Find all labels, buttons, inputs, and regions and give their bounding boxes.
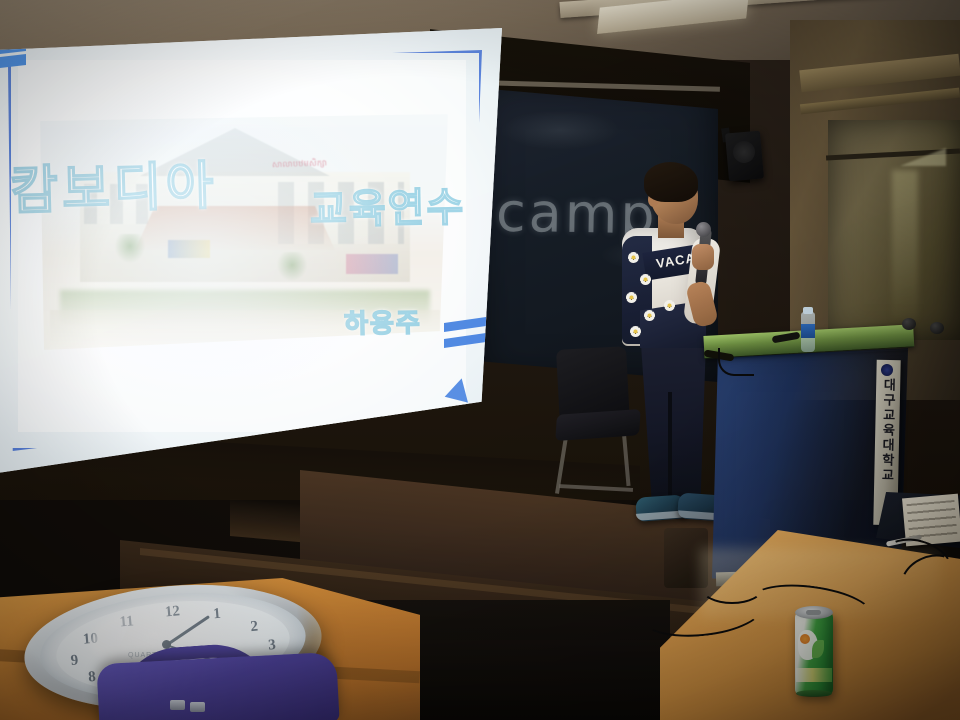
clock-number: 9: [70, 652, 79, 670]
paper-document-text-lines: [907, 500, 958, 540]
water-bottle-label: [801, 324, 815, 338]
shirt-flower-icon: [630, 326, 641, 337]
water-bottle-cap: [803, 307, 813, 314]
shirt-flower-icon: [626, 292, 637, 303]
podium-control-knob-secondary[interactable]: [930, 322, 944, 334]
bag-buckle-icon-secondary[interactable]: [190, 702, 205, 712]
podium-floor-cable: [700, 570, 764, 604]
podium-cable: [718, 348, 754, 376]
projection-screen: សាលាបឋមសិក្សា 캄보디아 교육연수 하용주: [0, 28, 502, 473]
soda-can-base: [796, 690, 832, 697]
shirt-flower-icon: [628, 252, 639, 263]
slide-presenter-name: 하용주: [344, 302, 422, 340]
podium-banner-logo-icon: [881, 364, 893, 376]
bag-buckle-icon[interactable]: [170, 700, 185, 710]
slide-title-sub: 교육연수: [310, 175, 466, 236]
chalk-smudge: [500, 110, 620, 150]
shirt-flower-icon: [640, 274, 651, 285]
soda-can-lower-band: [796, 668, 832, 682]
door-light-reflection: [900, 148, 946, 166]
purple-bag[interactable]: [96, 652, 339, 720]
photo-scene: camp សាលាបឋមសិក្សា 캄보디아 교육연수 하용주: [0, 0, 960, 720]
microphone-head-icon: [696, 222, 711, 237]
presenter-hair: [644, 162, 698, 202]
shirt-flower-icon: [664, 300, 675, 311]
presenter-leg-separation: [668, 392, 672, 500]
slide-border-frame: [8, 50, 482, 451]
clock-number: 8: [88, 669, 97, 687]
soda-can-fruit-icon: [800, 634, 810, 644]
shirt-flower-icon: [644, 310, 655, 321]
podium-control-knob[interactable]: [902, 318, 916, 330]
door-glass-glint: [892, 170, 918, 320]
presenter-hand: [692, 244, 714, 270]
soda-can-pull-tab-icon[interactable]: [806, 610, 821, 615]
slide-title-main: 캄보디아: [9, 143, 218, 223]
